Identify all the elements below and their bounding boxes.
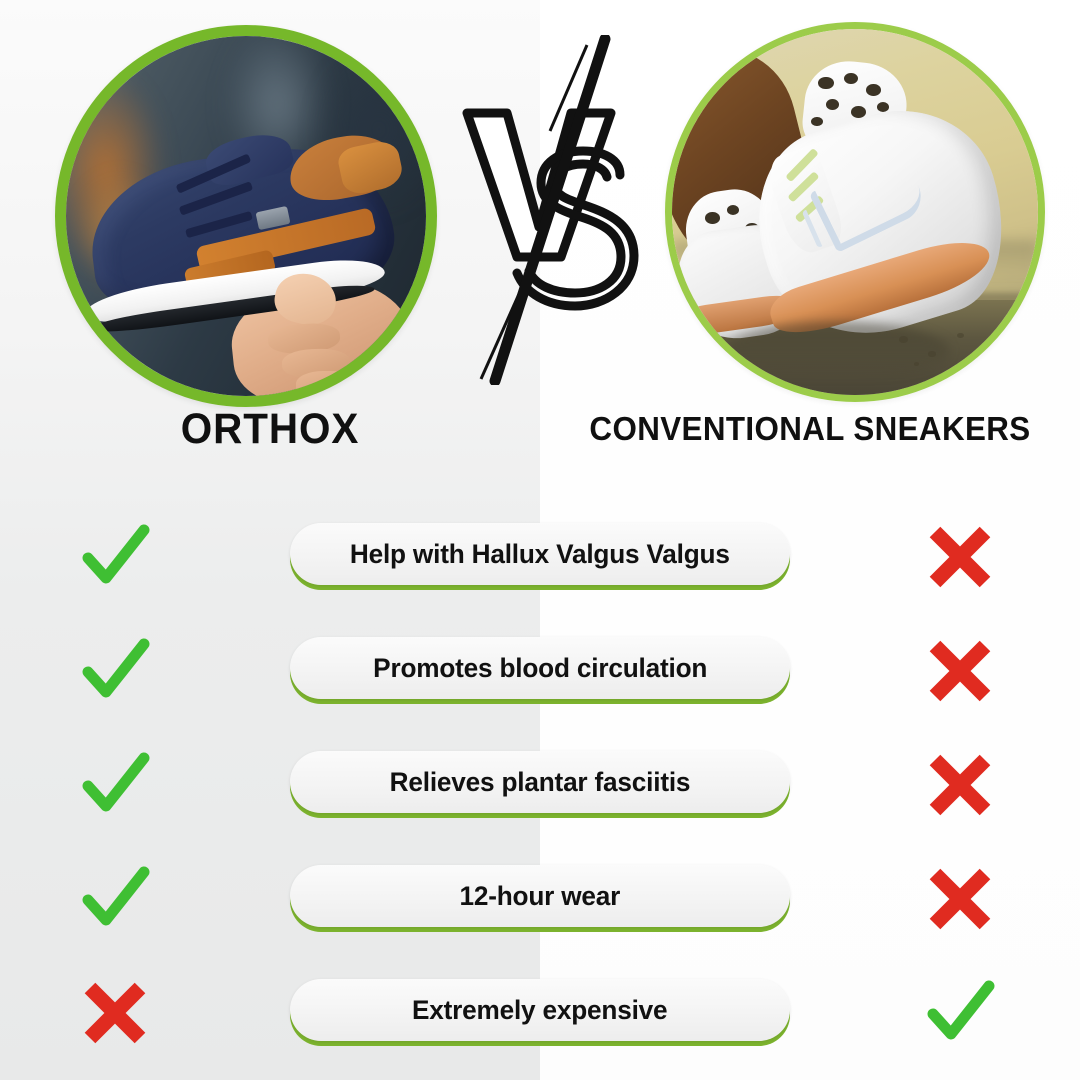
feature-label: Relieves plantar fasciitis (390, 767, 691, 798)
feature-pill-body: Extremely expensive (290, 979, 790, 1041)
feature-label: Help with Hallux Valgus Valgus (350, 539, 730, 570)
comparison-row: Relieves plantar fasciitis (0, 737, 1080, 833)
feature-pill: Relieves plantar fasciitis (290, 751, 790, 813)
comparison-infographic: ORTHOX CONVENTIONAL SNEAKERS Help with H… (0, 0, 1080, 1080)
cross-icon-right (905, 509, 1015, 605)
comparison-row: Promotes blood circulation (0, 623, 1080, 719)
feature-pill: Promotes blood circulation (290, 637, 790, 699)
feature-label: Extremely expensive (412, 995, 667, 1026)
feature-pill-body: 12-hour wear (290, 865, 790, 927)
check-icon-left (60, 737, 170, 833)
check-icon-left (60, 623, 170, 719)
feature-pill-body: Promotes blood circulation (290, 637, 790, 699)
comparison-rows: Help with Hallux Valgus Valgus Promotes … (0, 0, 1080, 1080)
cross-icon-left (60, 965, 170, 1061)
feature-label: 12-hour wear (460, 881, 621, 912)
comparison-row: 12-hour wear (0, 851, 1080, 947)
cross-icon-right (905, 851, 1015, 947)
feature-pill: 12-hour wear (290, 865, 790, 927)
check-icon-right (905, 965, 1015, 1061)
cross-icon-right (905, 623, 1015, 719)
comparison-row: Help with Hallux Valgus Valgus (0, 509, 1080, 605)
check-icon-left (60, 509, 170, 605)
check-icon-left (60, 851, 170, 947)
feature-pill: Help with Hallux Valgus Valgus (290, 523, 790, 585)
feature-pill-body: Help with Hallux Valgus Valgus (290, 523, 790, 585)
feature-pill-body: Relieves plantar fasciitis (290, 751, 790, 813)
feature-label: Promotes blood circulation (373, 653, 707, 684)
comparison-row: Extremely expensive (0, 965, 1080, 1061)
feature-pill: Extremely expensive (290, 979, 790, 1041)
cross-icon-right (905, 737, 1015, 833)
